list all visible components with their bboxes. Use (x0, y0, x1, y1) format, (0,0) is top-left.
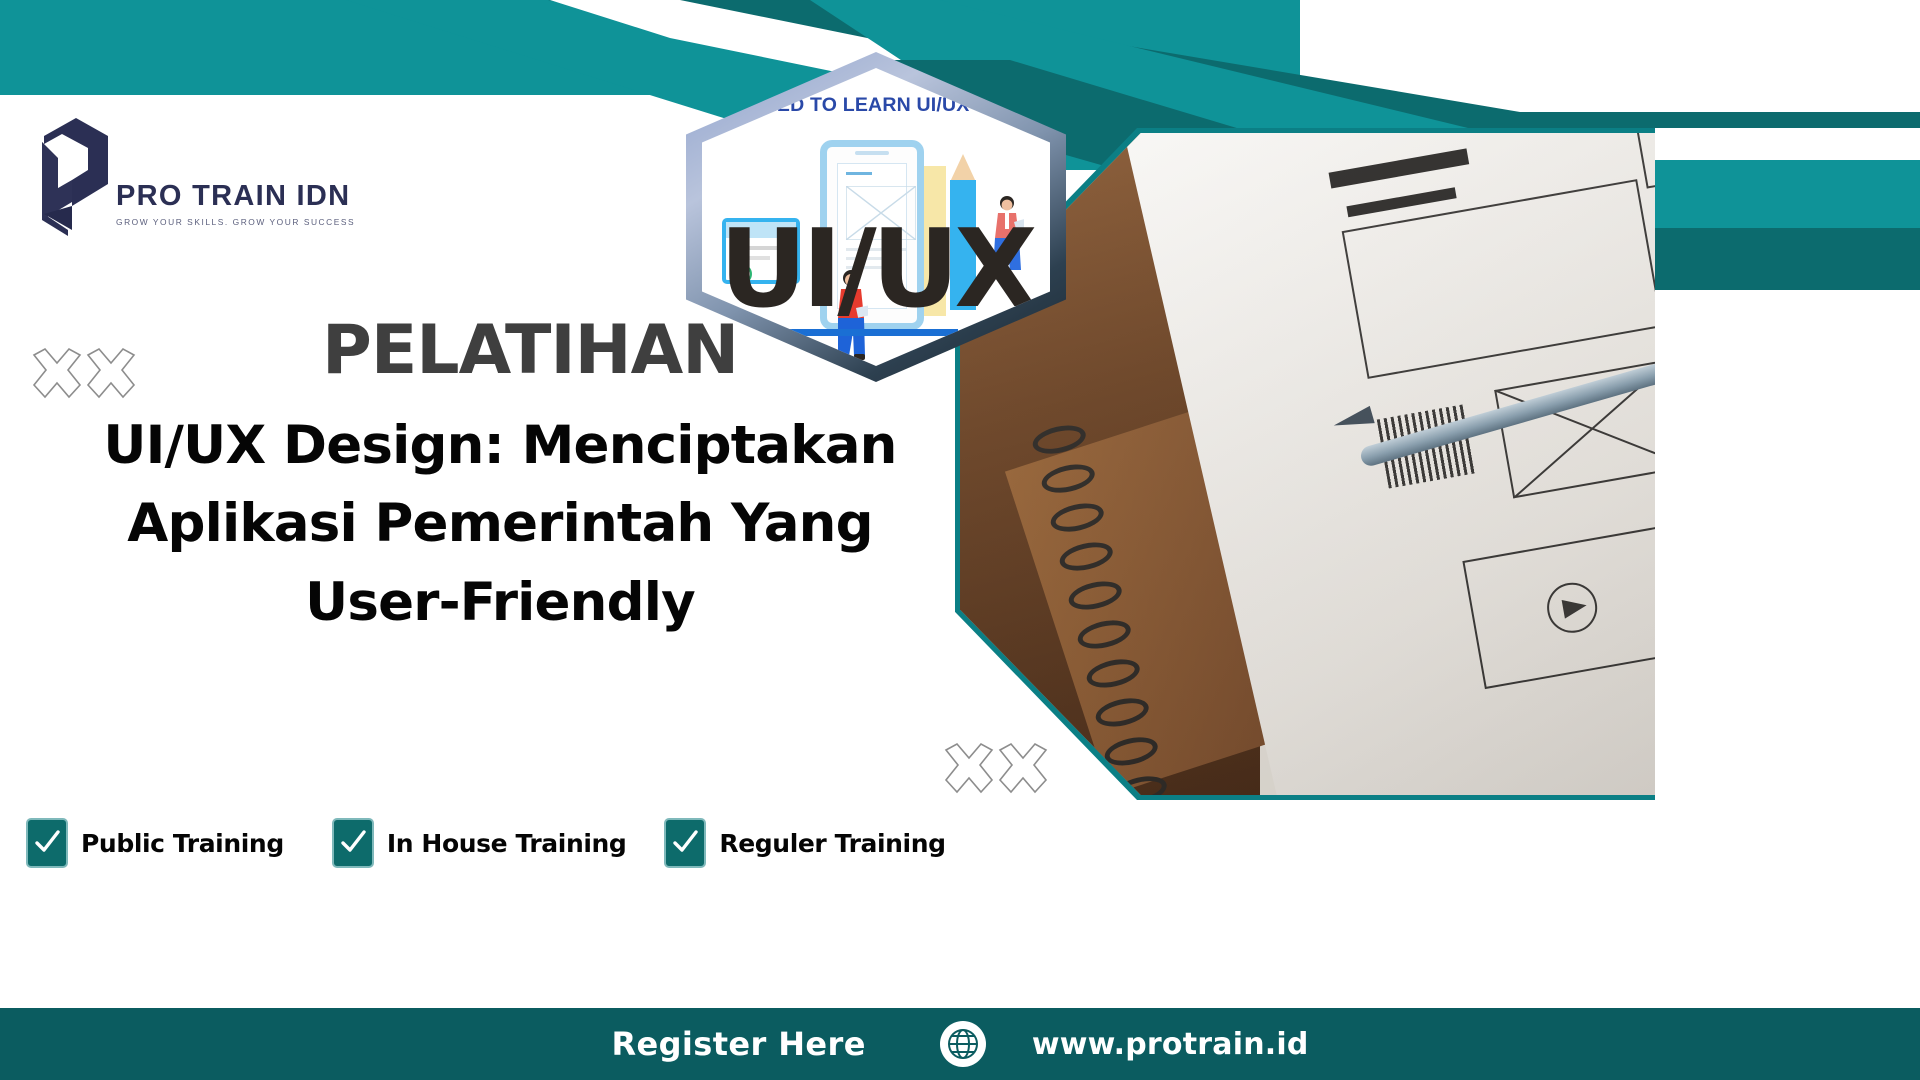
training-option-in-house[interactable]: In House Training (332, 818, 627, 868)
logo-tagline: GROW YOUR SKILLS. GROW YOUR SUCCESS (116, 217, 328, 227)
banner-canvas: PRO TRAIN IDN GROW YOUR SKILLS. GROW YOU… (0, 0, 1920, 1080)
page-title-line-3: User-Friendly (60, 564, 940, 642)
globe-icon (940, 1021, 986, 1067)
protrain-arrow-logo-icon (28, 118, 116, 236)
logo-wordmark-block: PRO TRAIN IDN GROW YOUR SKILLS. GROW YOU… (116, 180, 328, 227)
training-option-reguler[interactable]: Reguler Training (664, 818, 945, 868)
page-title-line-1: UI/UX Design: Menciptakan (60, 407, 940, 485)
footer-bar: Register Here www.protrain.id (0, 1008, 1920, 1080)
checkmark-icon (671, 829, 699, 857)
checkmark-icon (33, 829, 61, 857)
website-url[interactable]: www.protrain.id (1032, 1027, 1309, 1062)
training-option-label: In House Training (387, 829, 627, 858)
checkbox-in-house-training[interactable] (332, 818, 374, 868)
uiux-hexagon-badge: UI/UX NEED TO LEARN UI/UX DE (686, 52, 1066, 382)
logo-name: PRO TRAIN IDN (116, 180, 328, 213)
training-option-label: Public Training (81, 829, 284, 858)
cross-outline-icon (28, 345, 140, 407)
page-eyebrow: PELATIHAN (322, 311, 738, 390)
training-options-row: Public Training In House Training Regule… (26, 818, 946, 868)
page-title: UI/UX Design: Menciptakan Aplikasi Pemer… (60, 407, 940, 642)
page-title-line-2: Aplikasi Pemerintah Yang (60, 485, 940, 563)
checkbox-public-training[interactable] (26, 818, 68, 868)
brand-logo: PRO TRAIN IDN GROW YOUR SKILLS. GROW YOU… (28, 118, 328, 246)
illo-pencil-tip (950, 154, 976, 182)
training-option-public[interactable]: Public Training (26, 818, 284, 868)
uiux-big-text: UI/UX (702, 216, 1050, 324)
checkmark-icon (339, 829, 367, 857)
training-option-label: Reguler Training (719, 829, 945, 858)
checkbox-reguler-training[interactable] (664, 818, 706, 868)
footer-content: Register Here www.protrain.id (611, 1021, 1308, 1067)
register-here-cta[interactable]: Register Here (611, 1025, 865, 1063)
